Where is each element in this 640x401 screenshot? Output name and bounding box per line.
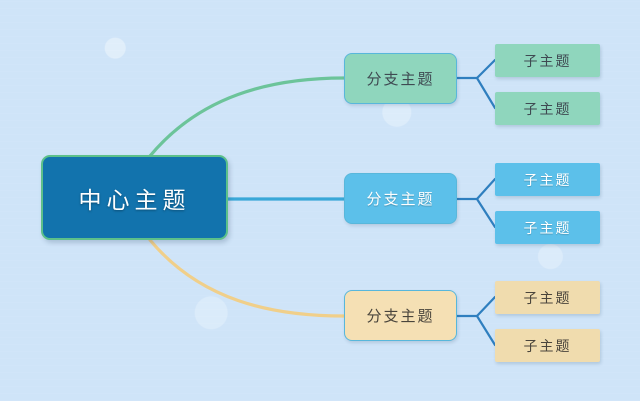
- sub-topic-node-1-2[interactable]: 子主题: [495, 92, 600, 125]
- center-topic-node[interactable]: 中心主题: [41, 155, 228, 240]
- sub-topic-node-2-1[interactable]: 子主题: [495, 163, 600, 196]
- fork-branch-2: [457, 179, 495, 227]
- fork-branch-1: [457, 60, 495, 108]
- connector-center-to-branch-1: [150, 78, 344, 156]
- mind-map-canvas: 中心主题 分支主题 子主题 子主题 分支主题 子主题 子主题 分支主题 子主题 …: [0, 0, 640, 401]
- sub-topic-node-1-1[interactable]: 子主题: [495, 44, 600, 77]
- sub-topic-node-3-2[interactable]: 子主题: [495, 329, 600, 362]
- branch-topic-node-2[interactable]: 分支主题: [344, 173, 457, 224]
- branch-topic-node-3[interactable]: 分支主题: [344, 290, 457, 341]
- fork-branch-3: [457, 297, 495, 345]
- sub-topic-node-2-2[interactable]: 子主题: [495, 211, 600, 244]
- branch-topic-node-1[interactable]: 分支主题: [344, 53, 457, 104]
- sub-topic-node-3-1[interactable]: 子主题: [495, 281, 600, 314]
- connector-center-to-branch-3: [150, 240, 344, 316]
